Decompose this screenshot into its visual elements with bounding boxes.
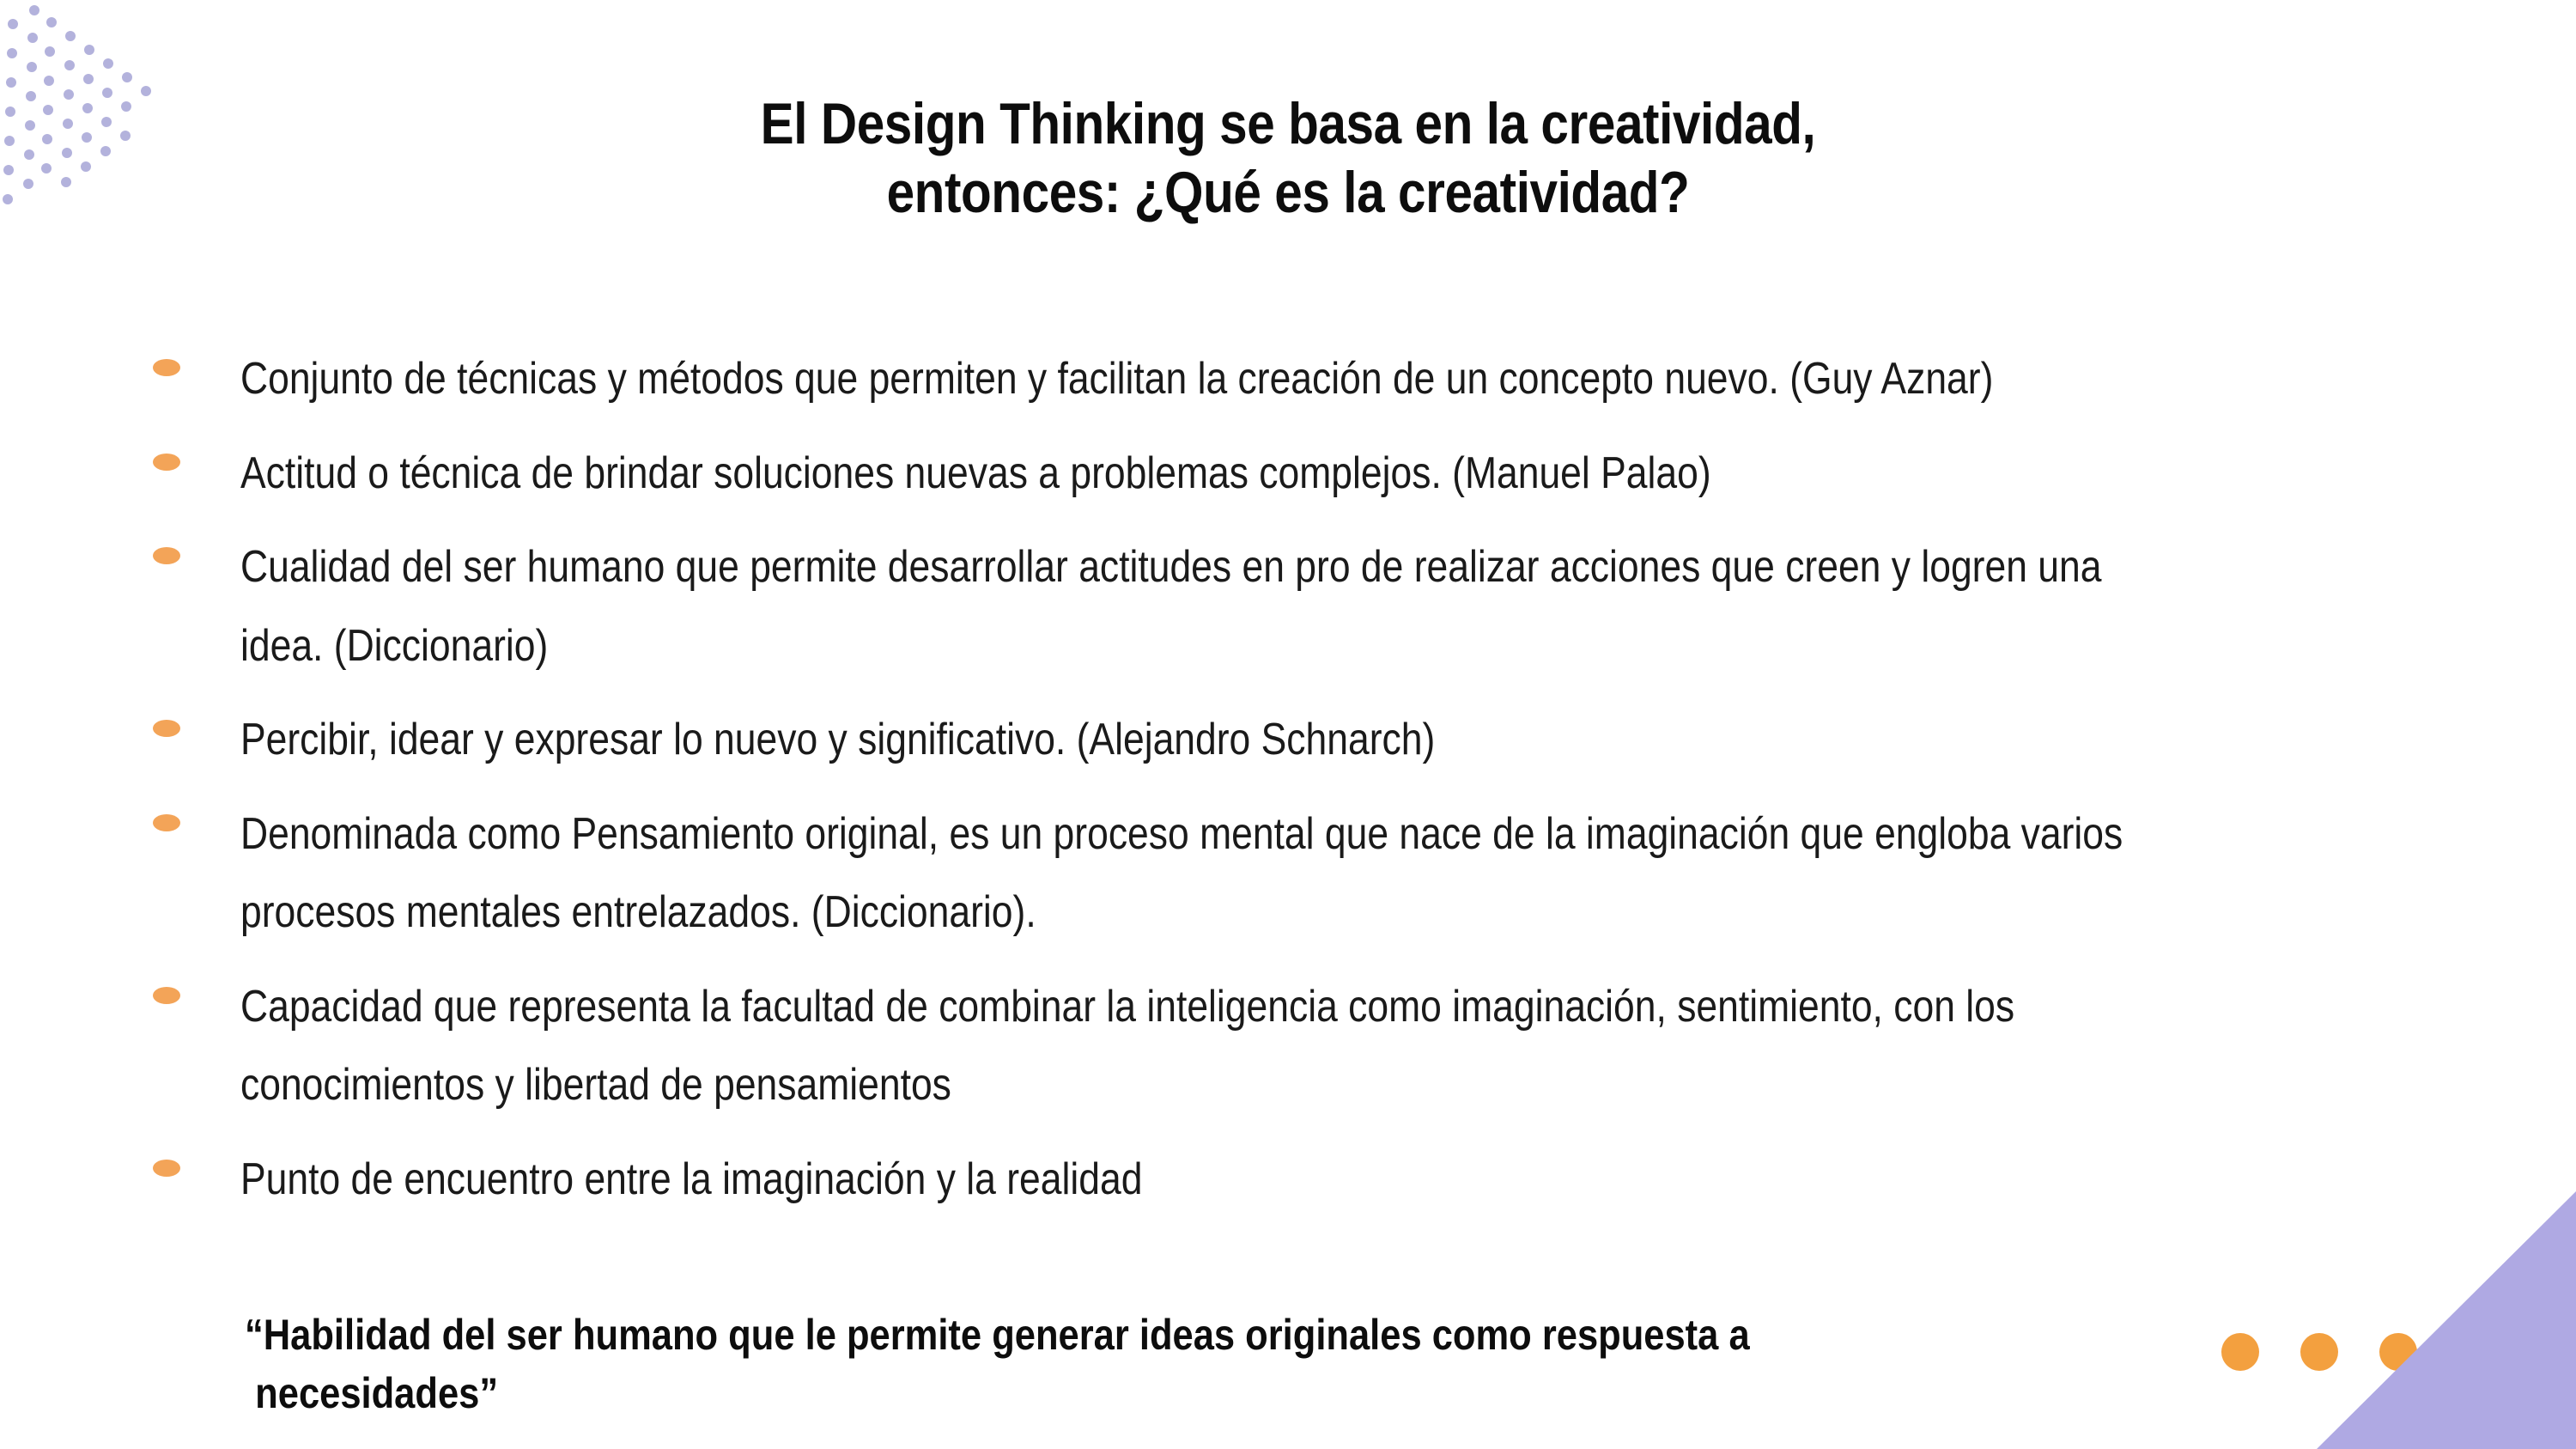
bullet-text: Punto de encuentro entre la imaginación … bbox=[240, 1141, 2148, 1220]
list-item: Cualidad del ser humano que permite desa… bbox=[153, 528, 2471, 685]
list-item: Percibir, idear y expresar lo nuevo y si… bbox=[153, 701, 2471, 780]
list-item: Denominada como Pensamiento original, es… bbox=[153, 795, 2471, 953]
bullet-dot-icon bbox=[153, 720, 180, 737]
bullet-text: Denominada como Pensamiento original, es… bbox=[240, 795, 2148, 953]
bullet-text: Conjunto de técnicas y métodos que permi… bbox=[240, 340, 2148, 419]
bullet-list: Conjunto de técnicas y métodos que permi… bbox=[153, 340, 2471, 1234]
bullet-text: Capacidad que representa la facultad de … bbox=[240, 968, 2148, 1125]
closing-quote: “Habilidad del ser humano que le permite… bbox=[245, 1247, 2038, 1449]
closing-quote-line-1: “Habilidad del ser humano que le permite… bbox=[245, 1311, 1750, 1359]
footer-dot-icon bbox=[2379, 1333, 2417, 1371]
list-item: Capacidad que representa la facultad de … bbox=[153, 968, 2471, 1125]
bullet-dot-icon bbox=[153, 987, 180, 1004]
list-item: Conjunto de técnicas y métodos que permi… bbox=[153, 340, 2471, 419]
list-item: Punto de encuentro entre la imaginación … bbox=[153, 1141, 2471, 1220]
footer-dot-icon bbox=[2221, 1333, 2259, 1371]
list-item: Actitud o técnica de brindar soluciones … bbox=[153, 435, 2471, 514]
footer-dot-group bbox=[2221, 1333, 2417, 1371]
slide-canvas: El Design Thinking se basa en la creativ… bbox=[0, 0, 2576, 1449]
bullet-text: Percibir, idear y expresar lo nuevo y si… bbox=[240, 701, 2148, 780]
bullet-dot-icon bbox=[153, 454, 180, 471]
bullet-dot-icon bbox=[153, 547, 180, 564]
slide-title: El Design Thinking se basa en la creativ… bbox=[402, 90, 2174, 227]
closing-quote-line-2: necesidades” bbox=[245, 1364, 2038, 1422]
triangular-dot-pattern-icon bbox=[0, 0, 197, 249]
bullet-text: Actitud o técnica de brindar soluciones … bbox=[240, 435, 2148, 514]
bullet-dot-icon bbox=[153, 359, 180, 376]
bullet-dot-icon bbox=[153, 1160, 180, 1177]
bullet-dot-icon bbox=[153, 814, 180, 831]
bullet-text: Cualidad del ser humano que permite desa… bbox=[240, 528, 2148, 685]
footer-dot-icon bbox=[2300, 1333, 2338, 1371]
